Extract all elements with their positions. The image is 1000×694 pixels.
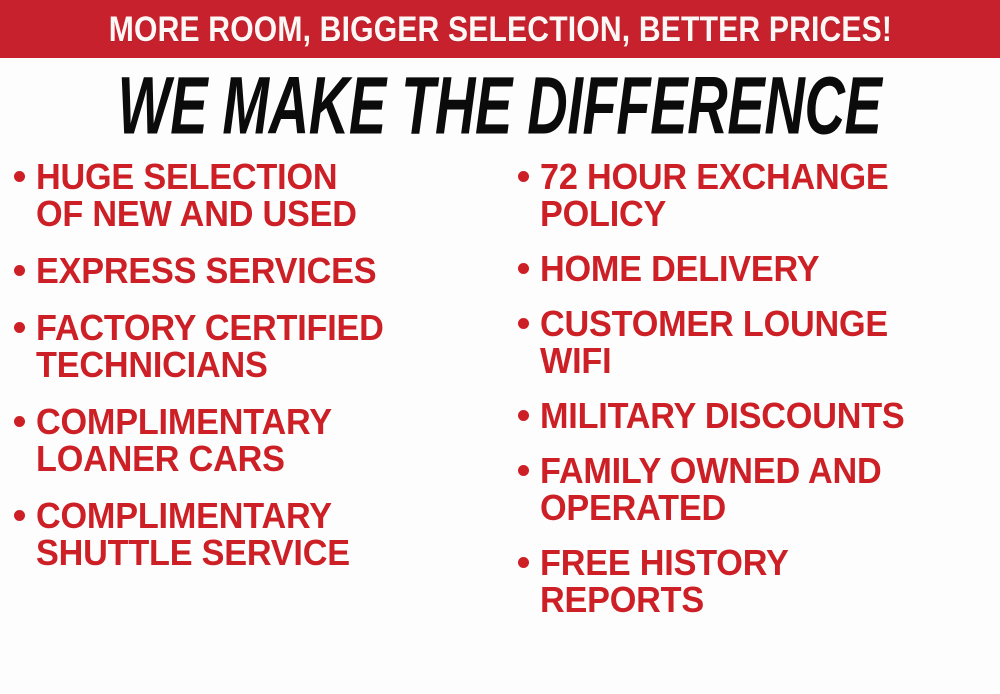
list-item: 72 HOUR EXCHANGE POLICY xyxy=(518,158,1000,232)
list-item: EXPRESS SERVICES xyxy=(14,252,500,289)
list-item: HUGE SELECTION OF NEW AND USED xyxy=(14,158,500,232)
list-item: CUSTOMER LOUNGE WIFI xyxy=(518,305,1000,379)
list-item-label: HOME DELIVERY xyxy=(540,250,819,287)
bullet-dot-icon xyxy=(14,510,25,521)
list-item: FACTORY CERTIFIED TECHNICIANS xyxy=(14,309,500,383)
list-item-label: FREE HISTORY REPORTS xyxy=(540,544,789,618)
page-title: WE MAKE THE DIFFERENCE xyxy=(0,62,1000,150)
list-item: FREE HISTORY REPORTS xyxy=(518,544,1000,618)
top-banner: MORE ROOM, BIGGER SELECTION, BETTER PRIC… xyxy=(0,0,1000,58)
bullet-dot-icon xyxy=(518,263,529,274)
bullet-dot-icon xyxy=(14,265,25,276)
list-item-label: HUGE SELECTION OF NEW AND USED xyxy=(36,158,357,232)
list-item: COMPLIMENTARY LOANER CARS xyxy=(14,403,500,477)
bullet-dot-icon xyxy=(518,318,529,329)
benefits-column-right: 72 HOUR EXCHANGE POLICY HOME DELIVERY CU… xyxy=(518,158,1000,694)
bullet-dot-icon xyxy=(518,171,529,182)
bullet-dot-icon xyxy=(14,416,25,427)
list-item: HOME DELIVERY xyxy=(518,250,1000,287)
banner-headline: MORE ROOM, BIGGER SELECTION, BETTER PRIC… xyxy=(108,12,891,47)
bullet-dot-icon xyxy=(518,557,529,568)
list-item-label: COMPLIMENTARY SHUTTLE SERVICE xyxy=(36,497,350,571)
benefits-column-left: HUGE SELECTION OF NEW AND USED EXPRESS S… xyxy=(14,158,500,694)
list-item-label: EXPRESS SERVICES xyxy=(36,252,376,289)
list-item-label: FACTORY CERTIFIED TECHNICIANS xyxy=(36,309,384,383)
bullet-dot-icon xyxy=(518,410,529,421)
benefits-columns: HUGE SELECTION OF NEW AND USED EXPRESS S… xyxy=(0,158,1000,694)
list-item-label: MILITARY DISCOUNTS xyxy=(540,397,905,434)
list-item-label: CUSTOMER LOUNGE WIFI xyxy=(540,305,888,379)
list-item-label: COMPLIMENTARY LOANER CARS xyxy=(36,403,332,477)
bullet-dot-icon xyxy=(518,465,529,476)
page-title-text: WE MAKE THE DIFFERENCE xyxy=(118,65,882,147)
bullet-dot-icon xyxy=(14,171,25,182)
list-item-label: FAMILY OWNED AND OPERATED xyxy=(540,452,882,526)
list-item-label: 72 HOUR EXCHANGE POLICY xyxy=(540,158,889,232)
promo-poster: MORE ROOM, BIGGER SELECTION, BETTER PRIC… xyxy=(0,0,1000,694)
bullet-dot-icon xyxy=(14,322,25,333)
list-item: COMPLIMENTARY SHUTTLE SERVICE xyxy=(14,497,500,571)
list-item: MILITARY DISCOUNTS xyxy=(518,397,1000,434)
list-item: FAMILY OWNED AND OPERATED xyxy=(518,452,1000,526)
